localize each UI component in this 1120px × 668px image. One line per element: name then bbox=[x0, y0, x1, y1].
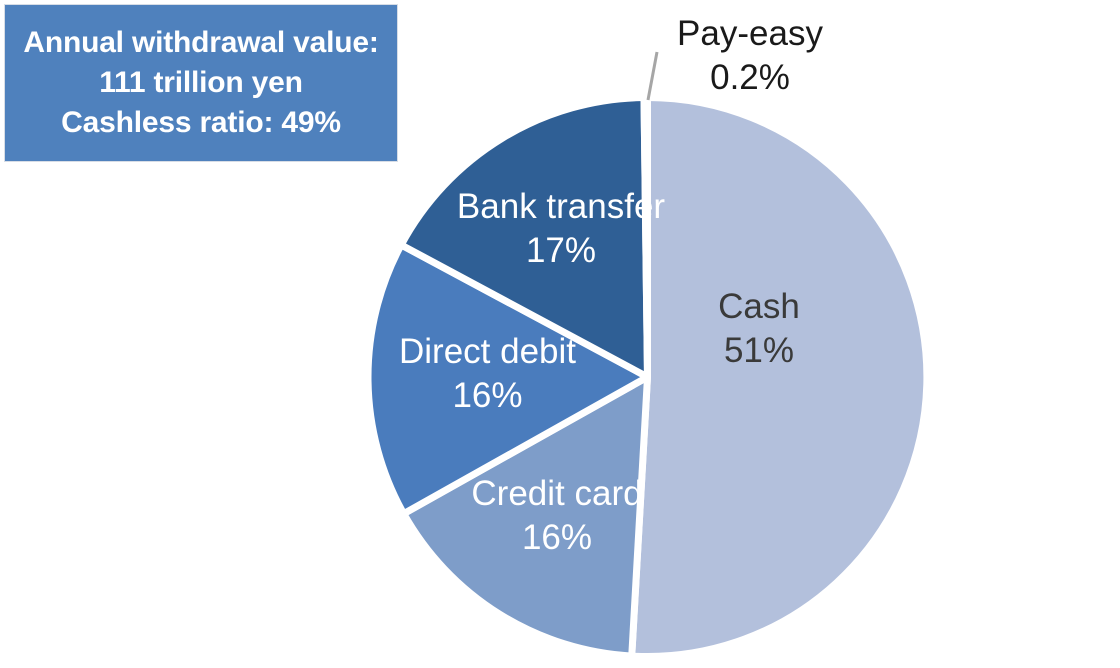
chart-canvas: Annual withdrawal value: 111 trillion ye… bbox=[0, 0, 1120, 668]
slice-label-pay-easy-value: 0.2% bbox=[640, 56, 860, 100]
pie-chart-svg bbox=[0, 0, 1120, 668]
pie-chart: Cash 51% Bank transfer 17% Direct debit … bbox=[0, 0, 1120, 668]
slice-label-pay-easy: Pay-easy 0.2% bbox=[640, 12, 860, 100]
slice-label-pay-easy-name: Pay-easy bbox=[640, 12, 860, 56]
pie-slice-group bbox=[368, 97, 927, 656]
pie-slice-cash bbox=[632, 98, 927, 657]
pie-slice-pay-easy bbox=[644, 97, 648, 377]
